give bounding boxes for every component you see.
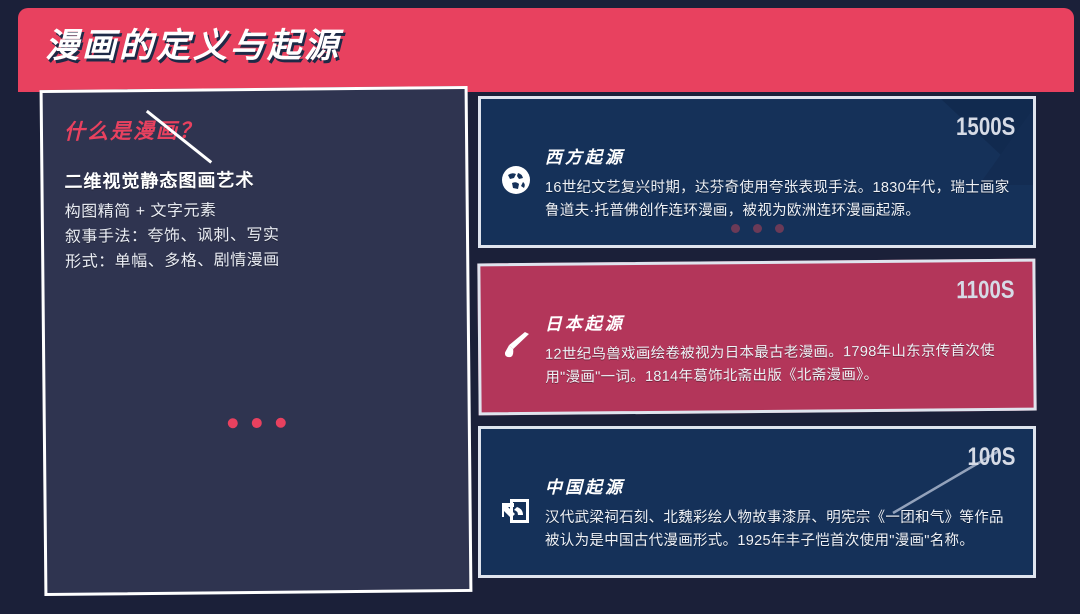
definition-line-1: 构图精简 + 文字元素 (65, 197, 445, 225)
dot (276, 418, 286, 428)
page-title: 漫画的定义与起源 (45, 18, 341, 67)
dot (228, 418, 238, 428)
era-badge: 100S (967, 443, 1015, 472)
definition-line-3: 形式：单幅、多格、剧情漫画 (65, 247, 445, 275)
era-badge: 1100S (956, 276, 1014, 306)
slide-canvas: 漫画的定义与起源 什么是漫画？ 二维视觉静态图画艺术 构图精简 + 文字元素 叙… (0, 0, 1080, 614)
origin-card-list: 1500S 西方起源 16世纪文艺复兴时期，达芬奇使用夸张表现手法。1830年代… (478, 96, 1036, 591)
card-dots (481, 224, 1033, 233)
ink-scroll-icon (499, 493, 533, 527)
card-description: 12世纪鸟兽戏画绘卷被视为日本最古老漫画。1798年山东京传首次使用"漫画"一词… (545, 340, 1017, 390)
card-title: 日本起源 (545, 306, 1017, 335)
origin-card-china[interactable]: 100S 中国起源 汉代武梁祠石刻、北魏彩绘人物故事漆屏、明宪宗《一团和气》等作… (478, 426, 1036, 578)
definition-line-2: 叙事手法：夸饰、讽刺、写实 (65, 222, 445, 250)
origin-card-western[interactable]: 1500S 西方起源 16世纪文艺复兴时期，达芬奇使用夸张表现手法。1830年代… (478, 96, 1036, 248)
globe-icon (499, 163, 533, 197)
origin-card-japan[interactable]: 1100S 日本起源 12世纪鸟兽戏画绘卷被视为日本最古老漫画。1798年山东京… (477, 259, 1036, 416)
dot (731, 224, 740, 233)
dot (252, 418, 262, 428)
definition-bold-line: 二维视觉静态图画艺术 (64, 164, 444, 194)
dot (775, 224, 784, 233)
era-badge: 1500S (956, 113, 1015, 142)
card-description: 16世纪文艺复兴时期，达芬奇使用夸张表现手法。1830年代，瑞士画家鲁道夫·托普… (545, 177, 1017, 223)
definition-dots (228, 418, 286, 429)
definition-heading: 什么是漫画？ (64, 112, 444, 146)
card-title: 中国起源 (545, 473, 1017, 498)
card-title: 西方起源 (545, 143, 1017, 168)
card-description: 汉代武梁祠石刻、北魏彩绘人物故事漆屏、明宪宗《一团和气》等作品被认为是中国古代漫… (545, 507, 1017, 553)
paintbrush-icon (499, 330, 533, 364)
dot (753, 224, 762, 233)
definition-panel: 什么是漫画？ 二维视觉静态图画艺术 构图精简 + 文字元素 叙事手法：夸饰、讽刺… (40, 86, 473, 596)
